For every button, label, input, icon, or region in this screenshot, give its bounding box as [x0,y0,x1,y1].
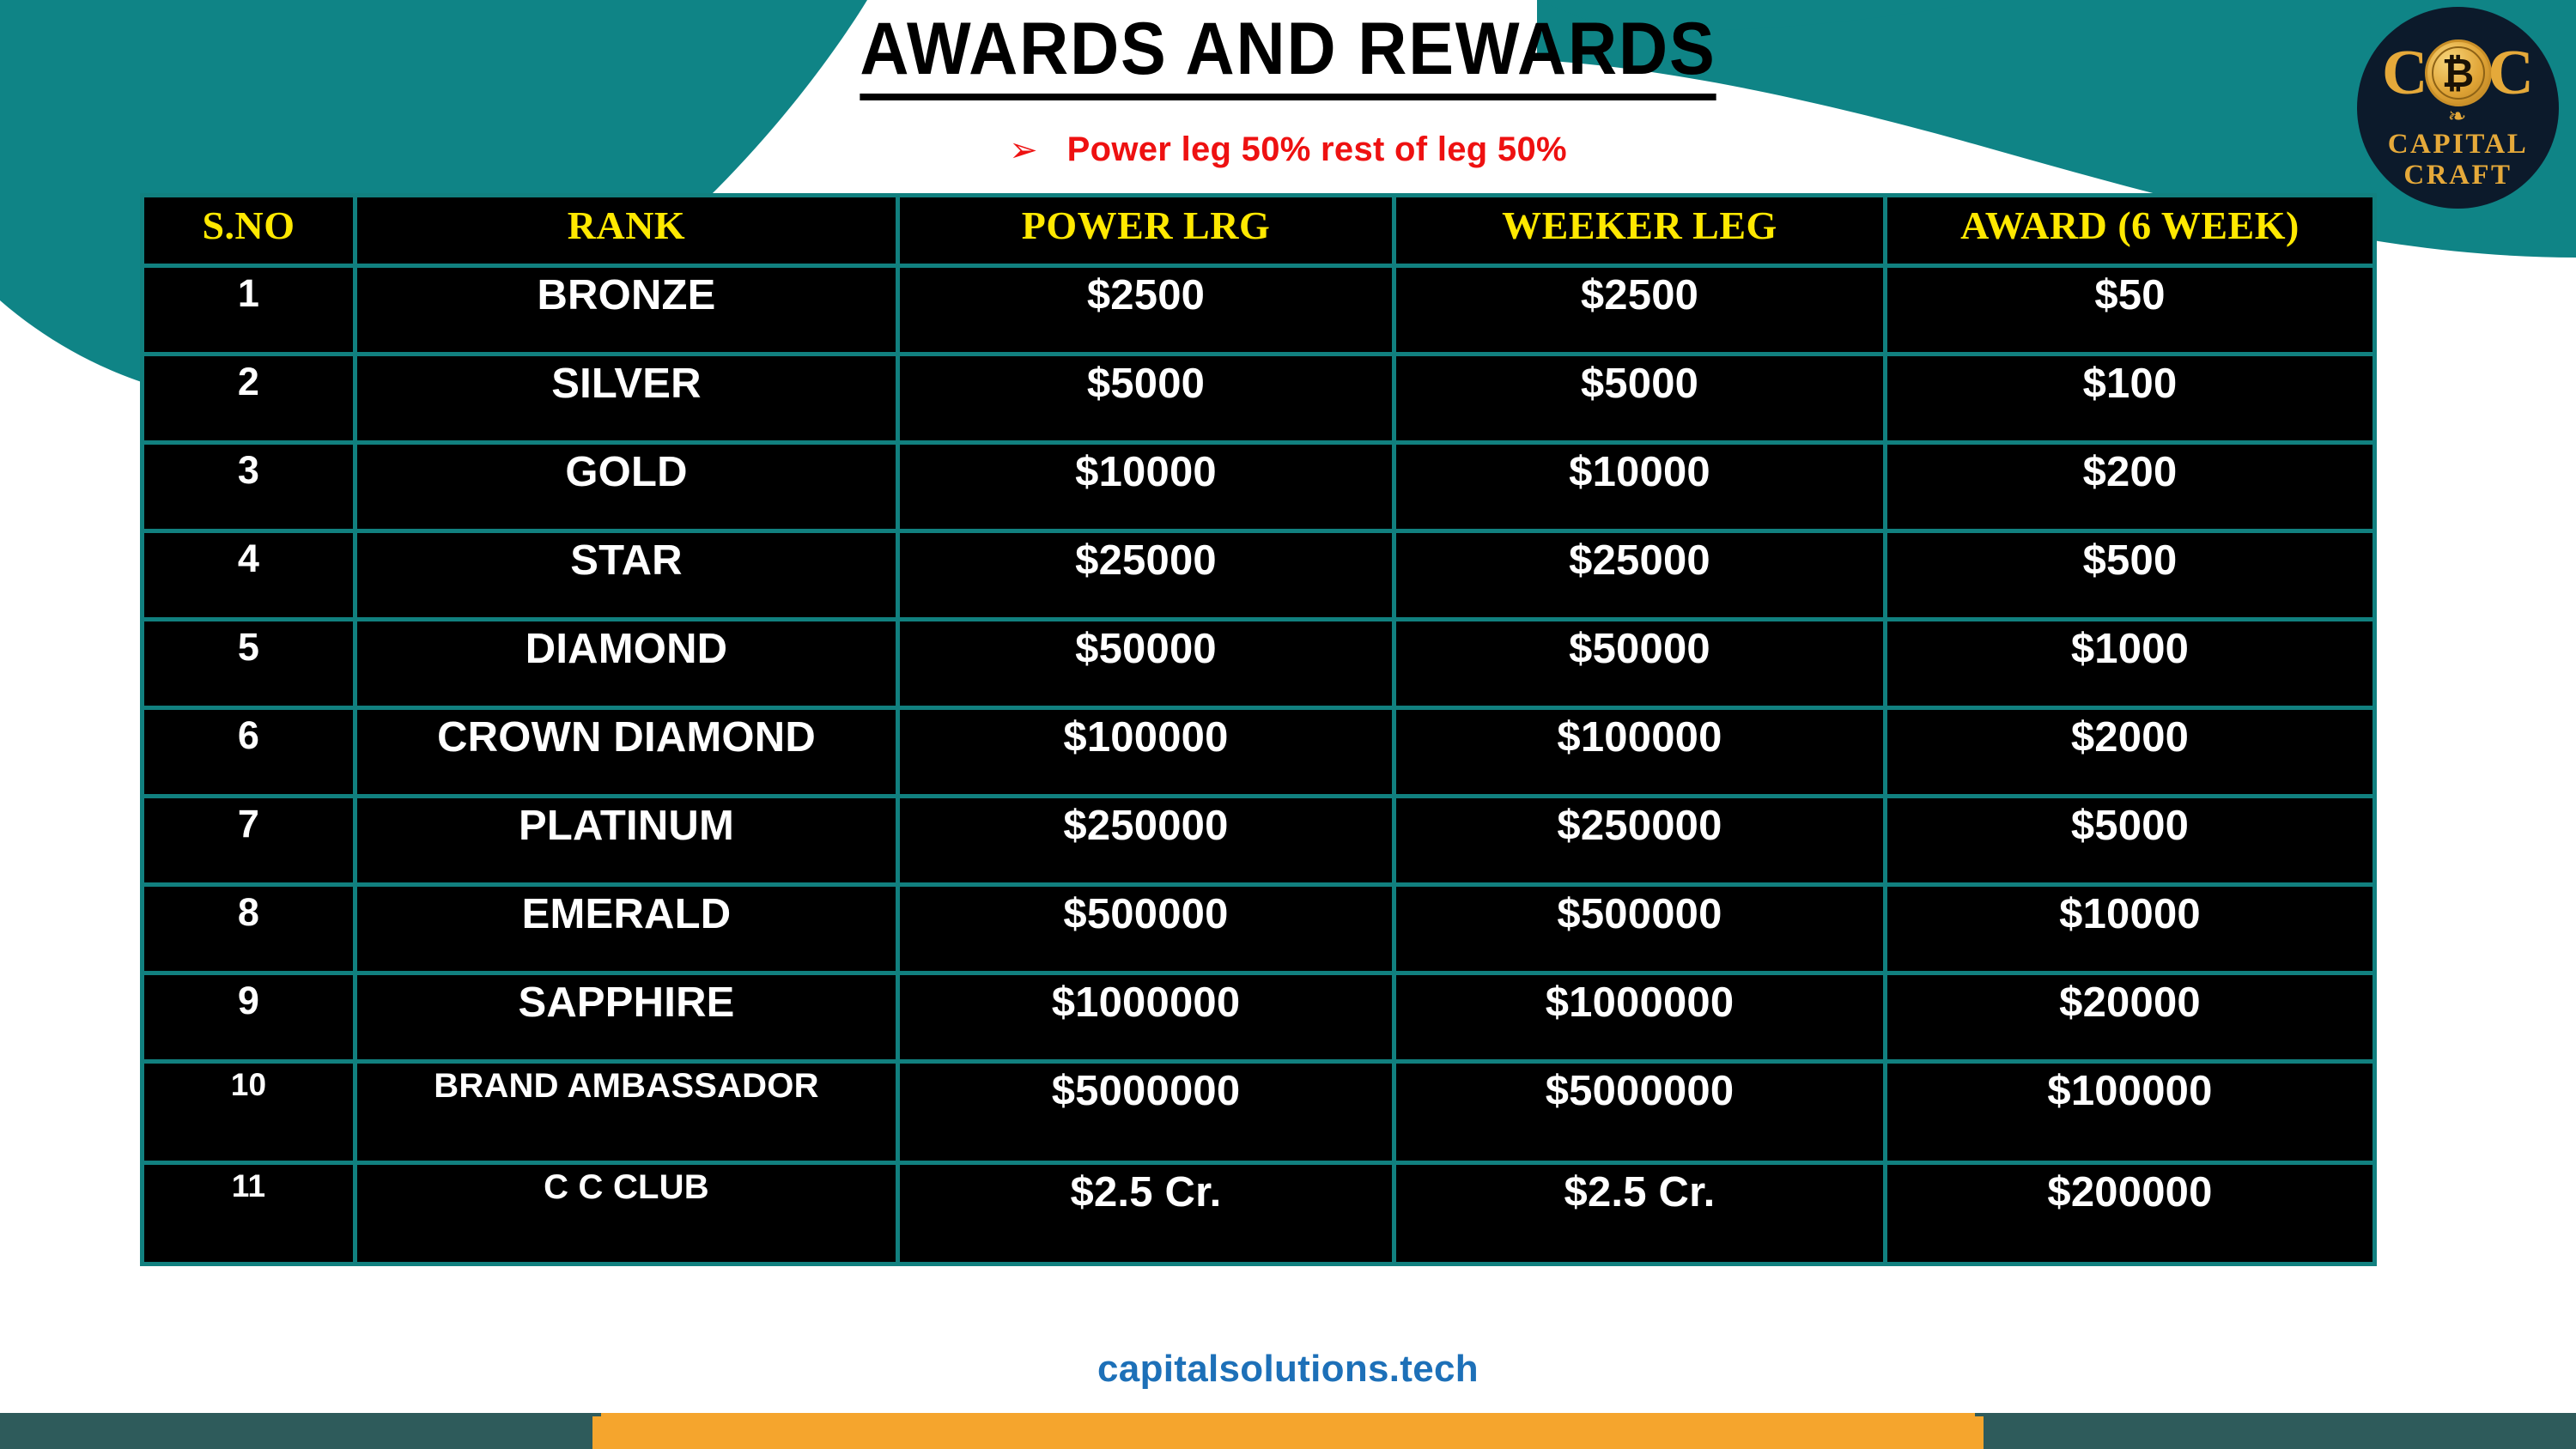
cell-sno: 1 [143,266,355,355]
cell-award: $500 [1886,531,2375,620]
subtitle-text: Power leg 50% rest of leg 50% [1067,130,1567,169]
cell-sno: 11 [143,1163,355,1264]
table-row: 4STAR$25000$25000$500 [143,531,2375,620]
cell-power-leg: $5000 [898,355,1394,443]
cell-power-leg: $5000000 [898,1062,1394,1163]
bottom-orange-rounded-shape [592,1413,1984,1449]
cell-award: $20000 [1886,973,2375,1062]
cell-power-leg: $25000 [898,531,1394,620]
cell-power-leg: $50000 [898,620,1394,708]
cell-rank: DIAMOND [355,620,898,708]
cell-sno: 4 [143,531,355,620]
table-row: 10BRAND AMBASSADOR$5000000$5000000$10000… [143,1062,2375,1163]
cell-sno: 9 [143,973,355,1062]
cell-award: $10000 [1886,885,2375,973]
column-header-power-lrg: POWER LRG [898,196,1394,266]
page-title: AWARDS AND REWARDS [0,7,2576,100]
column-header-weeker-leg: WEEKER LEG [1394,196,1886,266]
cell-rank: SAPPHIRE [355,973,898,1062]
cell-sno: 6 [143,708,355,797]
page-title-text: AWARDS AND REWARDS [860,7,1716,100]
column-header-rank: RANK [355,196,898,266]
cell-rank: BRONZE [355,266,898,355]
bottom-orange-shape [601,1413,1975,1449]
cell-power-leg: $250000 [898,797,1394,885]
cell-award: $5000 [1886,797,2375,885]
cell-power-leg: $500000 [898,885,1394,973]
column-header-award: AWARD (6 WEEK) [1886,196,2375,266]
cell-weeker-leg: $2500 [1394,266,1886,355]
cell-weeker-leg: $5000000 [1394,1062,1886,1163]
logo-flourish-icon: ❧ [2448,106,2469,128]
cell-weeker-leg: $250000 [1394,797,1886,885]
cell-award: $100 [1886,355,2375,443]
table-row: 8EMERALD$500000$500000$10000 [143,885,2375,973]
table-header-row: S.NO RANK POWER LRG WEEKER LEG AWARD (6 … [143,196,2375,266]
cell-sno: 7 [143,797,355,885]
cell-sno: 3 [143,443,355,531]
cell-award: $100000 [1886,1062,2375,1163]
cell-power-leg: $2.5 Cr. [898,1163,1394,1264]
table-row: 6CROWN DIAMOND$100000$100000$2000 [143,708,2375,797]
cell-sno: 2 [143,355,355,443]
cell-weeker-leg: $100000 [1394,708,1886,797]
website-link[interactable]: capitalsolutions.tech [0,1348,2576,1391]
cell-weeker-leg: $25000 [1394,531,1886,620]
cell-weeker-leg: $500000 [1394,885,1886,973]
table-row: 7PLATINUM$250000$250000$5000 [143,797,2375,885]
cell-rank: EMERALD [355,885,898,973]
cell-award: $200000 [1886,1163,2375,1264]
cell-weeker-leg: $10000 [1394,443,1886,531]
cell-rank: GOLD [355,443,898,531]
cell-award: $200 [1886,443,2375,531]
cell-weeker-leg: $1000000 [1394,973,1886,1062]
column-header-sno: S.NO [143,196,355,266]
cell-power-leg: $10000 [898,443,1394,531]
bottom-dark-teal-band [0,1413,2576,1449]
subtitle-line: ➢ Power leg 50% rest of leg 50% [0,130,2576,169]
bottom-orange-fill [592,1416,1984,1449]
table-body: 1BRONZE$2500$2500$502SILVER$5000$5000$10… [143,266,2375,1264]
arrow-bullet-icon: ➢ [1009,133,1038,167]
cell-weeker-leg: $2.5 Cr. [1394,1163,1886,1264]
cell-power-leg: $2500 [898,266,1394,355]
cell-award: $1000 [1886,620,2375,708]
table-row: 3GOLD$10000$10000$200 [143,443,2375,531]
cell-rank: BRAND AMBASSADOR [355,1062,898,1163]
cell-rank: CROWN DIAMOND [355,708,898,797]
cell-power-leg: $1000000 [898,973,1394,1062]
cell-award: $2000 [1886,708,2375,797]
cell-sno: 5 [143,620,355,708]
cell-sno: 8 [143,885,355,973]
cell-rank: C C CLUB [355,1163,898,1264]
table-row: 9SAPPHIRE$1000000$1000000$20000 [143,973,2375,1062]
awards-rewards-table: S.NO RANK POWER LRG WEEKER LEG AWARD (6 … [140,193,2377,1266]
table-row: 1BRONZE$2500$2500$50 [143,266,2375,355]
table-row: 5DIAMOND$50000$50000$1000 [143,620,2375,708]
cell-sno: 10 [143,1062,355,1163]
cell-rank: PLATINUM [355,797,898,885]
cell-weeker-leg: $50000 [1394,620,1886,708]
table-row: 11C C CLUB$2.5 Cr.$2.5 Cr.$200000 [143,1163,2375,1264]
cell-rank: SILVER [355,355,898,443]
cell-power-leg: $100000 [898,708,1394,797]
cell-weeker-leg: $5000 [1394,355,1886,443]
table-row: 2SILVER$5000$5000$100 [143,355,2375,443]
table-header: S.NO RANK POWER LRG WEEKER LEG AWARD (6 … [143,196,2375,266]
cell-rank: STAR [355,531,898,620]
cell-award: $50 [1886,266,2375,355]
